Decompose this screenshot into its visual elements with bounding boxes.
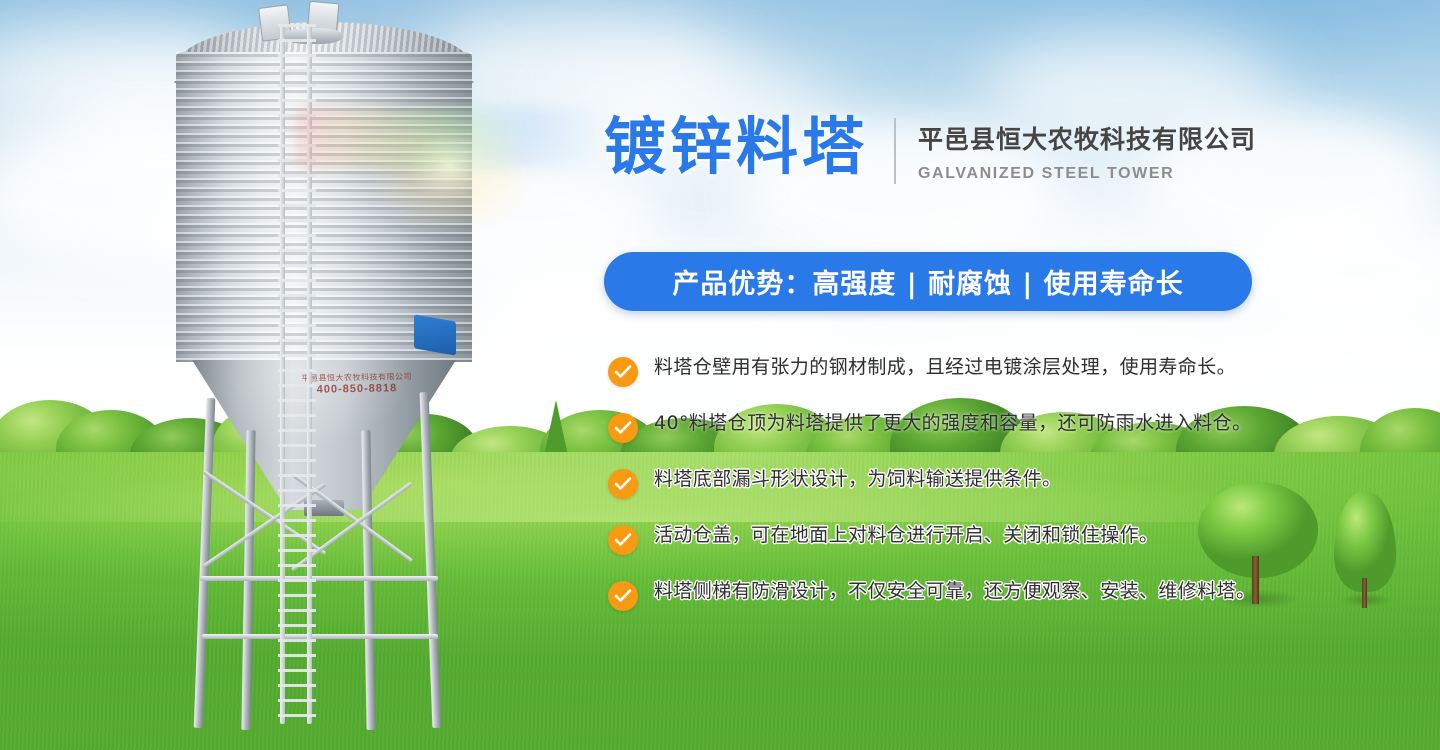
check-circle-icon	[608, 413, 638, 443]
silo-brace-mid	[200, 576, 438, 581]
text-panel: 镀锌料塔 平邑县恒大农牧科技有限公司 GALVANIZED STEEL TOWE…	[604, 0, 1364, 750]
check-circle-icon	[608, 469, 638, 499]
company-name: 平邑县恒大农牧科技有限公司	[918, 120, 1256, 156]
company-subtitle-en: GALVANIZED STEEL TOWER	[918, 165, 1256, 183]
feature-text: 活动仓盖，可在地面上对料仓进行开启、关闭和锁住操作。	[654, 524, 1158, 548]
title-divider	[894, 118, 896, 184]
feature-list: 料塔仓壁用有张力的钢材制成，且经过电镀涂层处理，使用寿命长。 40°料塔仓顶为料…	[608, 356, 1308, 636]
check-circle-icon	[608, 525, 638, 555]
silo-access-ladder	[278, 24, 316, 724]
galvanized-steel-silo-image: 平邑县恒大农牧科技有限公司 400-850-8818	[96, 0, 516, 750]
feature-item: 40°料塔仓顶为料塔提供了更大的强度和容量，还可防雨水进入料仓。	[608, 412, 1308, 443]
feature-text: 料塔底部漏斗形状设计，为饲料输送提供条件。	[654, 468, 1061, 492]
feature-item: 料塔仓壁用有张力的钢材制成，且经过电镀涂层处理，使用寿命长。	[608, 356, 1308, 387]
feature-item: 料塔底部漏斗形状设计，为饲料输送提供条件。	[608, 468, 1308, 499]
feature-text: 料塔侧梯有防滑设计，不仅安全可靠，还方便观察、安装、维修料塔。	[654, 580, 1255, 604]
headline-row: 镀锌料塔 平邑县恒大农牧科技有限公司 GALVANIZED STEEL TOWE…	[604, 116, 1256, 184]
silo-leg-4	[420, 392, 442, 728]
check-circle-icon	[608, 357, 638, 387]
hero-banner: 平邑县恒大农牧科技有限公司 400-850-8818 镀锌料塔 平邑县恒大农牧科…	[0, 0, 1440, 750]
feature-item: 活动仓盖，可在地面上对料仓进行开启、关闭和锁住操作。	[608, 524, 1308, 555]
product-advantage-text: 产品优势：高强度 | 耐腐蚀 | 使用寿命长	[672, 262, 1183, 301]
feature-item: 料塔侧梯有防滑设计，不仅安全可靠，还方便观察、安装、维修料塔。	[608, 580, 1308, 611]
page-title: 镀锌料塔	[604, 116, 868, 178]
check-circle-icon	[608, 581, 638, 611]
product-advantage-pill: 产品优势：高强度 | 耐腐蚀 | 使用寿命长	[604, 252, 1252, 311]
feature-text: 料塔仓壁用有张力的钢材制成，且经过电镀涂层处理，使用寿命长。	[654, 356, 1236, 380]
silo-brace-low	[202, 634, 438, 639]
company-block: 平邑县恒大农牧科技有限公司 GALVANIZED STEEL TOWER	[918, 116, 1256, 183]
silo-blue-chute	[414, 314, 456, 355]
silo-cylinder-body	[176, 52, 472, 362]
feature-text: 40°料塔仓顶为料塔提供了更大的强度和容量，还可防雨水进入料仓。	[654, 412, 1251, 436]
